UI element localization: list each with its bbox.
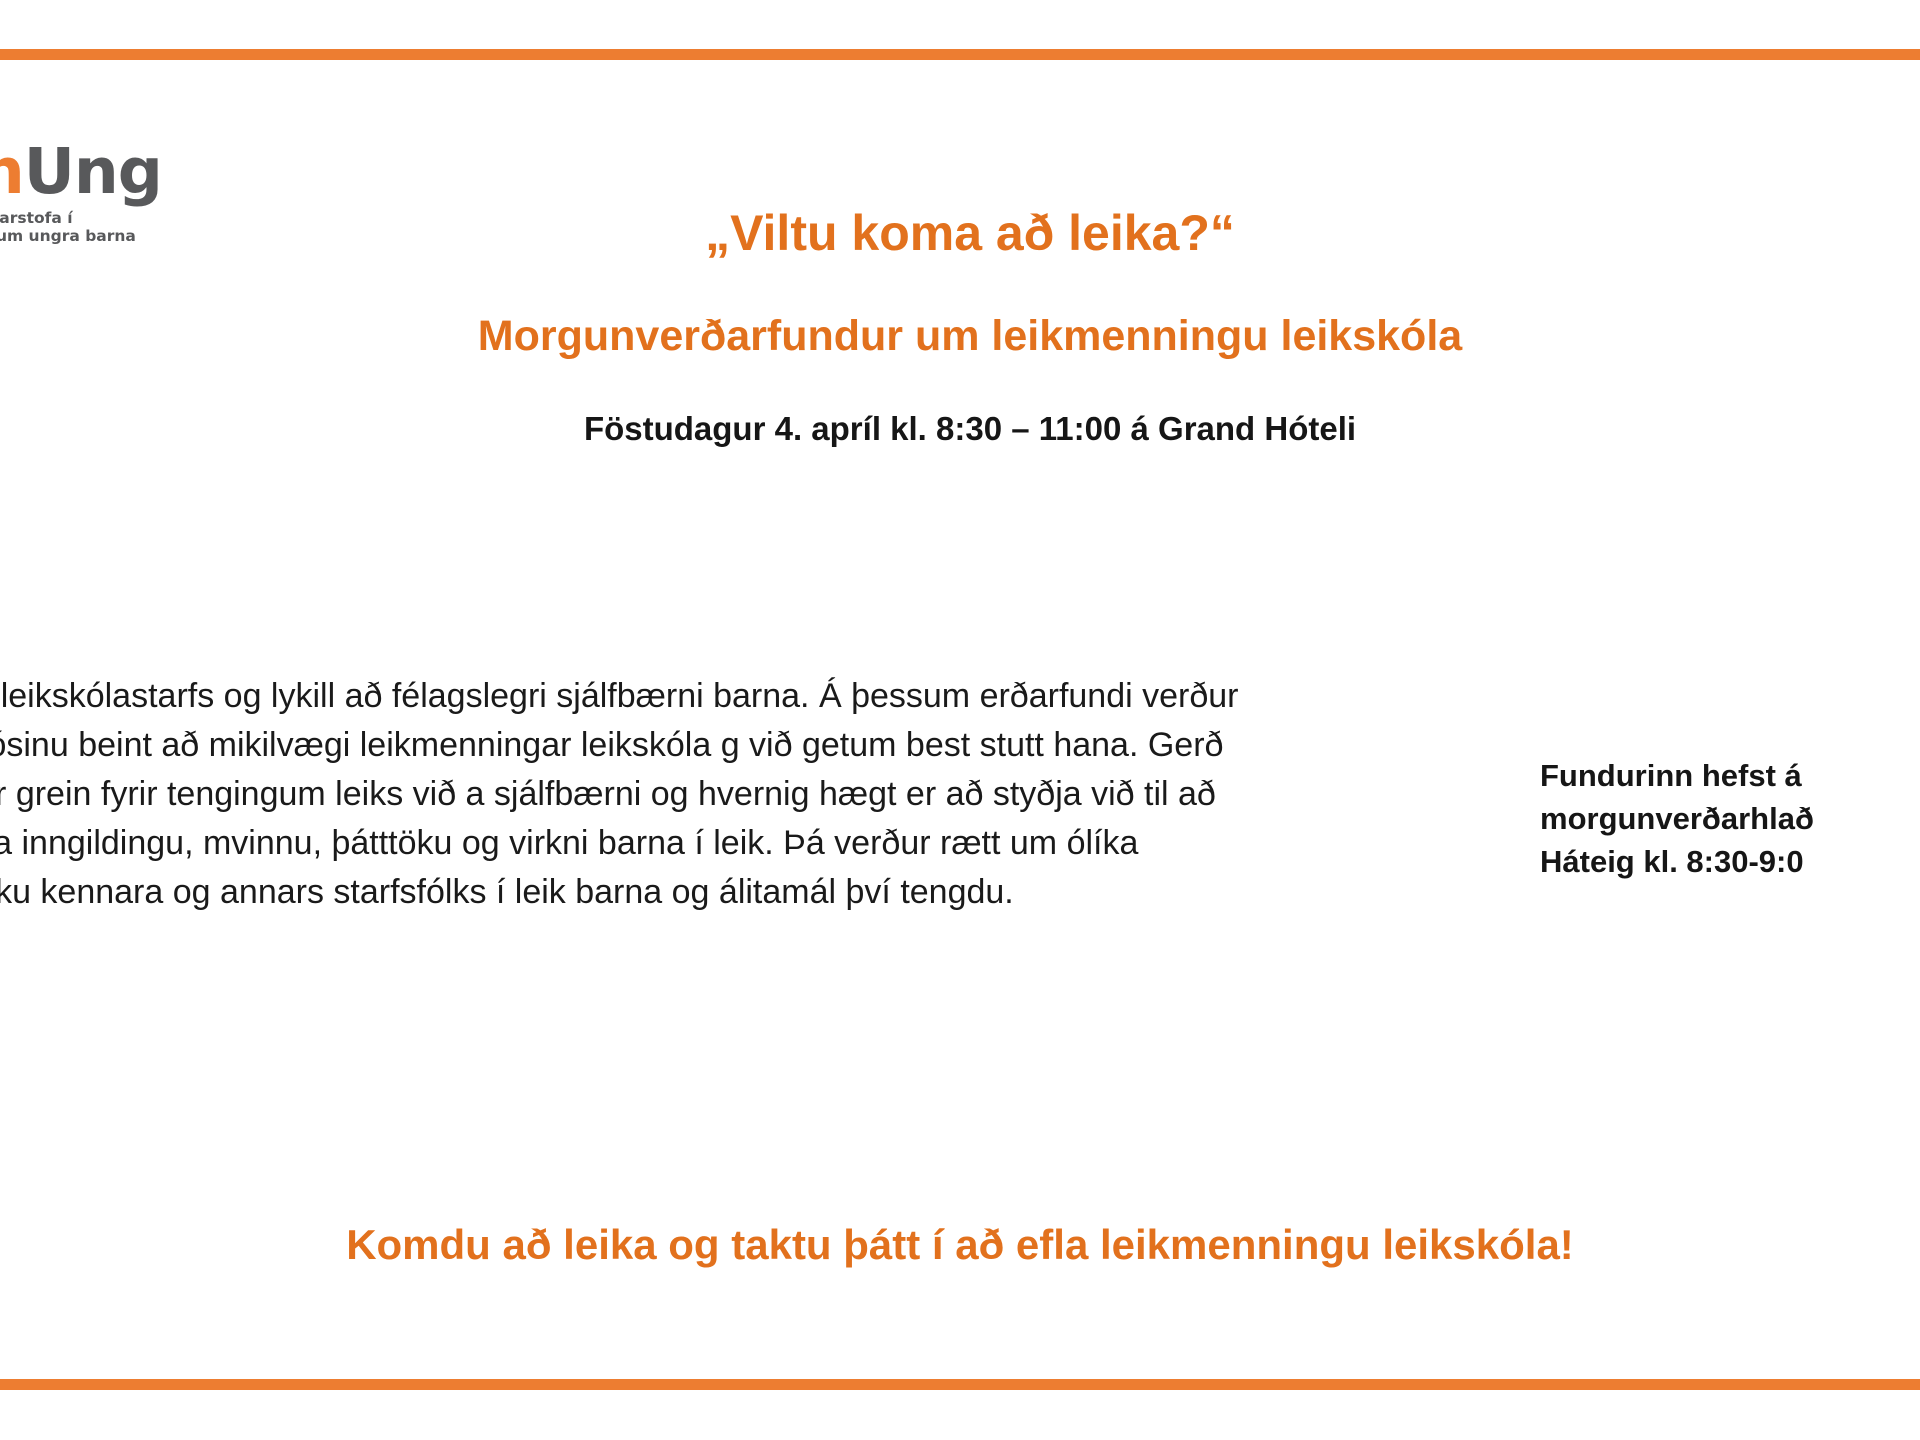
- page-title: „Viltu koma að leika?“: [260, 205, 1680, 263]
- side-note-line-1: Fundurinn hefst á: [1540, 755, 1920, 798]
- body-paragraph: kjarni leikskólastarfs og lykill að féla…: [0, 672, 1260, 917]
- page-subtitle: Morgunverðarfundur um leikmenningu leiks…: [260, 311, 1680, 363]
- logo-wordmark-gray: Ung: [24, 135, 162, 208]
- top-divider-rule: [0, 49, 1920, 60]
- side-note-block: Fundurinn hefst á morgunverðarhlað Hátei…: [1540, 755, 1920, 883]
- bottom-divider-rule: [0, 1379, 1920, 1390]
- logo-wordmark: nnUng: [0, 140, 236, 203]
- event-date-line: Föstudagur 4. apríl kl. 8:30 – 11:00 á G…: [260, 409, 1680, 449]
- logo-subtitle-line-1: nnsóknarstofa í: [0, 209, 236, 227]
- side-note-line-3: Háteig kl. 8:30-9:0: [1540, 841, 1920, 884]
- headline-block: „Viltu koma að leika?“ Morgunverðarfundu…: [260, 205, 1680, 449]
- logo-subtitle-line-2: urfræðum ungra barna: [0, 227, 236, 245]
- side-note-line-2: morgunverðarhlað: [1540, 798, 1920, 841]
- poster-canvas: nnUng nnsóknarstofa í urfræðum ungra bar…: [0, 0, 1920, 1440]
- logo-wordmark-orange: nn: [0, 135, 24, 208]
- logo-subtitle: nnsóknarstofa í urfræðum ungra barna: [0, 209, 236, 246]
- rannung-logo: nnUng nnsóknarstofa í urfræðum ungra bar…: [0, 140, 236, 246]
- call-to-action-text: Komdu að leika og taktu þátt í að efla l…: [60, 1220, 1860, 1270]
